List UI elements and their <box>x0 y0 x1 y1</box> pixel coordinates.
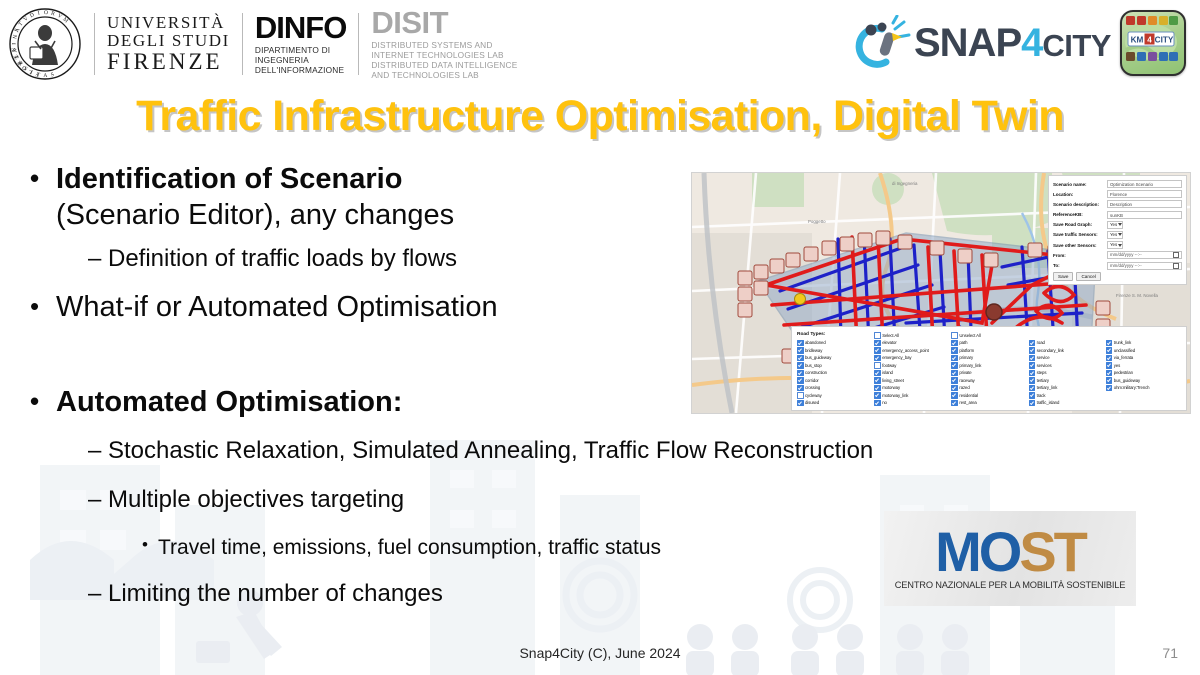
road-type-checkbox[interactable]: via_ferrata <box>1106 355 1181 362</box>
checkbox-icon[interactable] <box>951 347 958 354</box>
bullet-text: Identification of Scenario <box>56 162 402 196</box>
checkbox-label: bus_guideway <box>805 355 831 360</box>
most-mo-text: MO <box>935 520 1019 583</box>
form-row: To:mm/dd/yyyy --:-- <box>1053 262 1182 270</box>
bullet-identification-of-scenario: • Identification of Scenario <box>30 162 730 196</box>
road-type-checkbox[interactable]: primary_link <box>951 362 1026 369</box>
checkbox-icon[interactable] <box>797 362 804 369</box>
road-type-checkbox[interactable]: emergency_access_point <box>874 347 949 354</box>
divider <box>242 13 243 75</box>
disit-line2: INTERNET TECHNOLOGIES LAB <box>371 50 517 60</box>
form-row: Save traffic Sensors:Yes <box>1053 231 1182 239</box>
road-type-checkbox[interactable]: razed <box>951 385 1026 392</box>
checkbox-label: no <box>882 400 887 405</box>
field-label: ReferenceKB: <box>1053 212 1107 217</box>
unifi-crest-icon: S T V D I O R V M N E R O L F <box>8 7 82 81</box>
svg-text:I: I <box>37 10 40 16</box>
form-row: Save Road Graph:Yes <box>1053 221 1182 229</box>
field-text-input[interactable]: Florence <box>1107 190 1182 198</box>
bullet-glyph-icon: • <box>30 385 56 418</box>
checkbox-label: pedestrian <box>1114 370 1133 375</box>
bullet-what-if-optimisation: • What-if or Automated Optimisation <box>30 290 730 324</box>
divider <box>94 13 95 75</box>
road-type-checkbox[interactable]: service <box>1029 355 1104 362</box>
checkbox-label: construction <box>805 370 827 375</box>
svg-text:O: O <box>44 10 49 16</box>
checkbox-icon[interactable] <box>951 340 958 347</box>
university-line1: UNIVERSITÀ <box>107 14 230 32</box>
road-type-checkbox[interactable]: living_street <box>874 377 949 384</box>
slide: S T V D I O R V M N E R O L F <box>0 0 1200 675</box>
calendar-icon[interactable] <box>1173 263 1179 269</box>
checkbox-icon[interactable] <box>1106 347 1113 354</box>
checkbox-icon[interactable] <box>951 385 958 392</box>
svg-text:D: D <box>29 12 36 19</box>
bullet-glyph-icon: • <box>142 535 158 555</box>
field-label: From: <box>1053 253 1107 258</box>
checkbox-label: unclassified <box>1114 348 1135 353</box>
institution-logos: S T V D I O R V M N E R O L F <box>8 4 517 84</box>
checkbox-icon[interactable] <box>951 392 958 399</box>
checkbox-icon[interactable] <box>874 377 881 384</box>
most-logo: MOST CENTRO NAZIONALE PER LA MOBILITÀ SO… <box>884 511 1136 606</box>
svg-text:I: I <box>10 43 16 45</box>
checkbox-label: steps <box>1037 370 1047 375</box>
checkbox-icon[interactable] <box>1029 362 1036 369</box>
road-type-checkbox[interactable]: residential <box>951 392 1026 399</box>
field-text-input[interactable]: Optimization Scenario <box>1107 180 1182 188</box>
dinfo-acronym: DINFO <box>255 13 346 42</box>
checkbox-icon[interactable] <box>874 392 881 399</box>
checkbox-label: primary <box>959 355 973 360</box>
field-label: Save other Sensors: <box>1053 243 1107 248</box>
road-type-checkbox[interactable]: pedestrian <box>1106 370 1181 377</box>
field-select[interactable]: Yes <box>1107 241 1123 249</box>
form-row: ReferenceKB:sunKB <box>1053 211 1182 219</box>
checkbox-label: bus_stop <box>805 363 822 368</box>
road-type-checkbox[interactable]: bus_guideway <box>797 355 872 362</box>
footer-text: Snap4City (C), June 2024 <box>0 645 1200 661</box>
university-line2: DEGLI STUDI <box>107 32 230 50</box>
divider <box>358 13 359 75</box>
snap4city-wordmark: SNAP4CITY <box>914 23 1111 63</box>
checkbox-icon[interactable] <box>874 355 881 362</box>
dash-glyph-icon: – <box>88 437 108 466</box>
checkbox-label: platform <box>959 348 974 353</box>
disit-acronym: DISIT <box>371 8 517 37</box>
svg-text:4: 4 <box>1147 36 1152 45</box>
road-type-checkbox[interactable]: tertiary <box>1029 377 1104 384</box>
field-label: Location: <box>1053 192 1107 197</box>
svg-text:Firenze S. M. Novella: Firenze S. M. Novella <box>1116 293 1159 298</box>
checkbox-label: primary_link <box>959 363 981 368</box>
form-row: Save other Sensors:Yes <box>1053 241 1182 249</box>
field-label: Save Road Graph: <box>1053 222 1107 227</box>
field-date-input[interactable]: mm/dd/yyyy --:-- <box>1107 251 1182 259</box>
svg-text:CITY: CITY <box>1155 36 1174 45</box>
checkbox-label: rest_area <box>959 400 976 405</box>
checkbox-icon[interactable] <box>874 400 881 407</box>
checkbox-icon[interactable] <box>1029 347 1036 354</box>
checkbox-label: track <box>1037 393 1046 398</box>
checkbox-label: motorway_link <box>882 393 908 398</box>
road-type-checkbox[interactable]: corridor <box>797 377 872 384</box>
university-name: UNIVERSITÀ DEGLI STUDI FIRENZE <box>107 14 230 74</box>
checkbox-icon[interactable] <box>797 370 804 377</box>
checkbox-label: living_street <box>882 378 904 383</box>
svg-text:A: A <box>43 73 48 79</box>
checkbox-label: bus_guideway <box>1114 378 1140 383</box>
road-type-checkbox[interactable]: yes <box>1106 362 1181 369</box>
field-label: Scenario description: <box>1053 202 1107 207</box>
field-text-input[interactable]: Description <box>1107 200 1182 208</box>
sub-bullet-text: Multiple objectives targeting <box>108 486 404 515</box>
checkbox-label: emergency_access_point <box>882 348 929 353</box>
checkbox-icon[interactable] <box>1029 400 1036 407</box>
checkbox-label: via_ferrata <box>1114 355 1133 360</box>
checkbox-label: secondary_link <box>1037 348 1064 353</box>
field-select[interactable]: Yes <box>1107 231 1123 239</box>
road-type-checkbox[interactable]: construction <box>797 370 872 377</box>
checkbox-icon[interactable] <box>797 347 804 354</box>
checkbox-icon[interactable] <box>1029 385 1036 392</box>
dash-glyph-icon: – <box>88 486 108 515</box>
road-type-checkbox[interactable]: steps <box>1029 370 1104 377</box>
road-type-checkbox[interactable]: motorway <box>874 385 949 392</box>
checkbox-icon[interactable] <box>874 370 881 377</box>
checkbox-icon[interactable] <box>1029 370 1036 377</box>
road-type-checkbox[interactable]: raceway <box>951 377 1026 384</box>
checkbox-label: trunk_link <box>1114 340 1131 345</box>
checkbox-label: path <box>959 340 967 345</box>
scenario-form-rows: Scenario name:Optimization ScenarioLocat… <box>1053 180 1182 270</box>
grid-spacer <box>1106 392 1181 399</box>
sub-bullet-text: Definition of traffic loads by flows <box>108 245 457 274</box>
calendar-icon[interactable] <box>1173 252 1179 258</box>
grid-spacer <box>1106 400 1181 407</box>
svg-text:di Ingegneria: di Ingegneria <box>892 181 918 186</box>
field-date-input[interactable]: mm/dd/yyyy --:-- <box>1107 262 1182 270</box>
road-type-checkbox[interactable]: crossing <box>797 385 872 392</box>
checkbox-icon[interactable] <box>951 370 958 377</box>
chevron-down-icon <box>1118 233 1122 236</box>
checkbox-icon[interactable] <box>1106 385 1113 392</box>
bullet-text: Automated Optimisation: <box>56 385 402 419</box>
checkbox-label: bridleway <box>805 348 822 353</box>
sub-bullet-stochastic-relaxation: – Stochastic Relaxation, Simulated Annea… <box>88 437 1180 466</box>
form-row: Location:Florence <box>1053 190 1182 198</box>
checkbox-icon[interactable] <box>874 347 881 354</box>
snap4city-swirl-icon <box>852 15 914 71</box>
checkbox-label: motorway <box>882 385 900 390</box>
disit-line1: DISTRIBUTED SYSTEMS AND <box>371 40 517 50</box>
field-label: Save traffic Sensors: <box>1053 232 1107 237</box>
checkbox-label: Select All <box>882 333 899 338</box>
road-type-checkbox[interactable]: path <box>951 340 1026 347</box>
checkbox-label: tertiary_link <box>1037 385 1058 390</box>
checkbox-icon[interactable] <box>797 355 804 362</box>
road-type-checkbox[interactable]: platform <box>951 347 1026 354</box>
field-text-input[interactable]: sunKB <box>1107 211 1182 219</box>
road-type-checkbox[interactable]: road <box>1029 340 1104 347</box>
disit-line4: AND TECHNOLOGIES LAB <box>371 70 517 80</box>
unselect-all-checkbox[interactable]: Unselect All <box>951 332 1026 339</box>
page-number: 71 <box>1162 645 1178 661</box>
checkbox-icon[interactable] <box>951 377 958 384</box>
bullet-scenario-editor-cont: (Scenario Editor), any changes <box>56 198 730 233</box>
road-type-checkbox[interactable]: rest_area <box>951 400 1026 407</box>
form-row: Scenario name:Optimization Scenario <box>1053 180 1182 188</box>
field-label: Scenario name: <box>1053 182 1107 187</box>
svg-text:S: S <box>50 72 55 79</box>
checkbox-label: abandoned <box>805 340 826 345</box>
dinfo-logo: DINFO DIPARTIMENTO DI INGEGNERIA DELL'IN… <box>255 13 346 75</box>
checkbox-icon[interactable] <box>797 377 804 384</box>
checkbox-label: footway <box>882 363 896 368</box>
road-type-checkbox[interactable]: motorway_link <box>874 392 949 399</box>
disit-logo: DISIT DISTRIBUTED SYSTEMS AND INTERNET T… <box>371 8 517 80</box>
road-type-checkbox[interactable]: bridleway <box>797 347 872 354</box>
road-type-checkbox[interactable]: footway <box>874 362 949 369</box>
checkbox-label: disused <box>805 400 819 405</box>
most-st-text: ST <box>1019 520 1085 583</box>
svg-text:Poggetto: Poggetto <box>808 219 826 224</box>
checkbox-icon[interactable] <box>951 332 958 339</box>
road-type-checkbox[interactable]: tertiary_link <box>1029 385 1104 392</box>
dinfo-line2: INGEGNERIA <box>255 55 346 65</box>
checkbox-label: razed <box>959 385 969 390</box>
checkbox-label: tertiary <box>1037 378 1049 383</box>
slide-header: S T V D I O R V M N E R O L F <box>0 0 1200 88</box>
checkbox-icon[interactable] <box>1029 355 1036 362</box>
checkbox-label: service <box>1037 355 1050 360</box>
checkbox-icon[interactable] <box>874 340 881 347</box>
checkbox-icon[interactable] <box>797 392 804 399</box>
dash-glyph-icon: – <box>88 245 108 274</box>
checkbox-label: private <box>959 370 971 375</box>
checkbox-label: yes <box>1114 363 1120 368</box>
form-buttons: Save Cancel <box>1053 272 1182 281</box>
checkbox-icon[interactable] <box>1029 392 1036 399</box>
svg-text:V: V <box>10 48 17 54</box>
checkbox-label: cycleway <box>805 393 822 398</box>
form-row: Scenario description:Description <box>1053 200 1182 208</box>
checkbox-label: island <box>882 370 893 375</box>
svg-text:R: R <box>50 11 56 18</box>
road-type-checkbox[interactable]: unclassified <box>1106 347 1181 354</box>
dinfo-line1: DIPARTIMENTO DI <box>255 45 346 55</box>
form-row: From:mm/dd/yyyy --:-- <box>1053 251 1182 259</box>
road-type-checkbox[interactable]: ohm:military:Trench <box>1106 385 1181 392</box>
most-tagline: CENTRO NAZIONALE PER LA MOBILITÀ SOSTENI… <box>895 580 1125 590</box>
chevron-down-icon <box>1118 223 1122 226</box>
checkbox-label: ohm:military:Trench <box>1114 385 1150 390</box>
checkbox-label: services <box>1037 363 1052 368</box>
checkbox-icon[interactable] <box>951 355 958 362</box>
checkbox-label: emergency_bay <box>882 355 911 360</box>
checkbox-icon[interactable] <box>874 385 881 392</box>
checkbox-icon[interactable] <box>797 340 804 347</box>
checkbox-icon[interactable] <box>1029 340 1036 347</box>
sub-sub-bullet-text: Travel time, emissions, fuel consumption… <box>158 535 661 560</box>
university-line3: FIRENZE <box>107 50 230 74</box>
road-type-checkbox[interactable]: primary <box>951 355 1026 362</box>
snap4city-branding: SNAP4CITY KM 4 CITY <box>852 8 1186 78</box>
road-type-checkbox[interactable]: track <box>1029 392 1104 399</box>
page-title: Traffic Infrastructure Optimisation, Dig… <box>0 92 1200 141</box>
road-type-checkbox[interactable]: bus_stop <box>797 362 872 369</box>
bullet-list-upper: • Identification of Scenario (Scenario E… <box>30 162 730 326</box>
road-type-checkbox[interactable]: abandoned <box>797 340 872 347</box>
road-type-checkbox[interactable]: private <box>951 370 1026 377</box>
checkbox-label: corridor <box>805 378 819 383</box>
checkbox-icon[interactable] <box>874 362 881 369</box>
checkbox-label: residential <box>959 393 978 398</box>
road-types-heading: Road Types: <box>797 332 872 339</box>
city-text: CITY <box>1042 28 1111 63</box>
road-type-checkbox[interactable]: bus_guideway <box>1106 377 1181 384</box>
dash-glyph-icon: – <box>88 580 108 609</box>
sub-bullet-text: Limiting the number of changes <box>108 580 443 609</box>
dinfo-line3: DELL'INFORMAZIONE <box>255 65 346 75</box>
checkbox-icon[interactable] <box>1106 377 1113 384</box>
checkbox-icon[interactable] <box>797 385 804 392</box>
checkbox-icon[interactable] <box>874 332 881 339</box>
bullet-text: What-if or Automated Optimisation <box>56 290 498 324</box>
road-type-checkbox[interactable]: traffic_island <box>1029 400 1104 407</box>
road-types-grid: abandonedelevatorpathroadtrunk_linkbridl… <box>797 340 1181 407</box>
cancel-button[interactable]: Cancel <box>1076 272 1100 281</box>
sub-bullet-traffic-loads: – Definition of traffic loads by flows <box>88 245 730 274</box>
scenario-form-panel: Scenario name:Optimization ScenarioLocat… <box>1048 175 1187 285</box>
svg-text:T: T <box>36 72 41 79</box>
road-type-checkbox[interactable]: disused <box>797 400 872 407</box>
bullet-glyph-icon: • <box>30 162 56 195</box>
checkbox-label: crossing <box>805 385 820 390</box>
four-text: 4 <box>1021 21 1042 65</box>
chevron-down-icon <box>1118 244 1122 247</box>
most-wordmark: MOST <box>935 527 1085 577</box>
field-label: To: <box>1053 263 1107 268</box>
road-type-checkbox[interactable]: elevator <box>874 340 949 347</box>
disit-line3: DISTRIBUTED DATA INTELLIGENCE <box>371 60 517 70</box>
checkbox-icon[interactable] <box>1106 340 1113 347</box>
km4city-icon: KM 4 CITY <box>1120 10 1186 76</box>
road-type-checkbox[interactable]: services <box>1029 362 1104 369</box>
road-type-checkbox[interactable]: island <box>874 370 949 377</box>
select-all-checkbox[interactable]: Select All <box>874 332 949 339</box>
checkbox-icon[interactable] <box>1029 377 1036 384</box>
checkbox-label: traffic_island <box>1037 400 1060 405</box>
sub-bullet-text: Stochastic Relaxation, Simulated Anneali… <box>108 437 873 466</box>
checkbox-icon[interactable] <box>1106 362 1113 369</box>
checkbox-label: Unselect All <box>959 333 980 338</box>
field-select[interactable]: Yes <box>1107 221 1123 229</box>
snap-text: SNAP <box>914 21 1021 65</box>
checkbox-label: road <box>1037 340 1045 345</box>
checkbox-icon[interactable] <box>1106 370 1113 377</box>
checkbox-icon[interactable] <box>1106 355 1113 362</box>
checkbox-icon[interactable] <box>797 400 804 407</box>
road-type-checkbox[interactable]: secondary_link <box>1029 347 1104 354</box>
checkbox-label: elevator <box>882 340 897 345</box>
save-button[interactable]: Save <box>1053 272 1073 281</box>
bullet-glyph-icon: • <box>30 290 56 323</box>
checkbox-label: raceway <box>959 378 974 383</box>
checkbox-icon[interactable] <box>951 362 958 369</box>
svg-text:N: N <box>10 34 17 40</box>
scenario-editor-screenshot: Poggettodi Ingegneria Piaz Filippo Miraz… <box>691 172 1191 414</box>
checkbox-icon[interactable] <box>951 400 958 407</box>
road-type-checkbox[interactable]: cycleway <box>797 392 872 399</box>
road-types-panel: Road Types: Select All Unselect All aban… <box>791 326 1187 411</box>
svg-text:KM: KM <box>1131 36 1144 45</box>
road-type-checkbox[interactable]: trunk_link <box>1106 340 1181 347</box>
road-type-checkbox[interactable]: no <box>874 400 949 407</box>
road-type-checkbox[interactable]: emergency_bay <box>874 355 949 362</box>
